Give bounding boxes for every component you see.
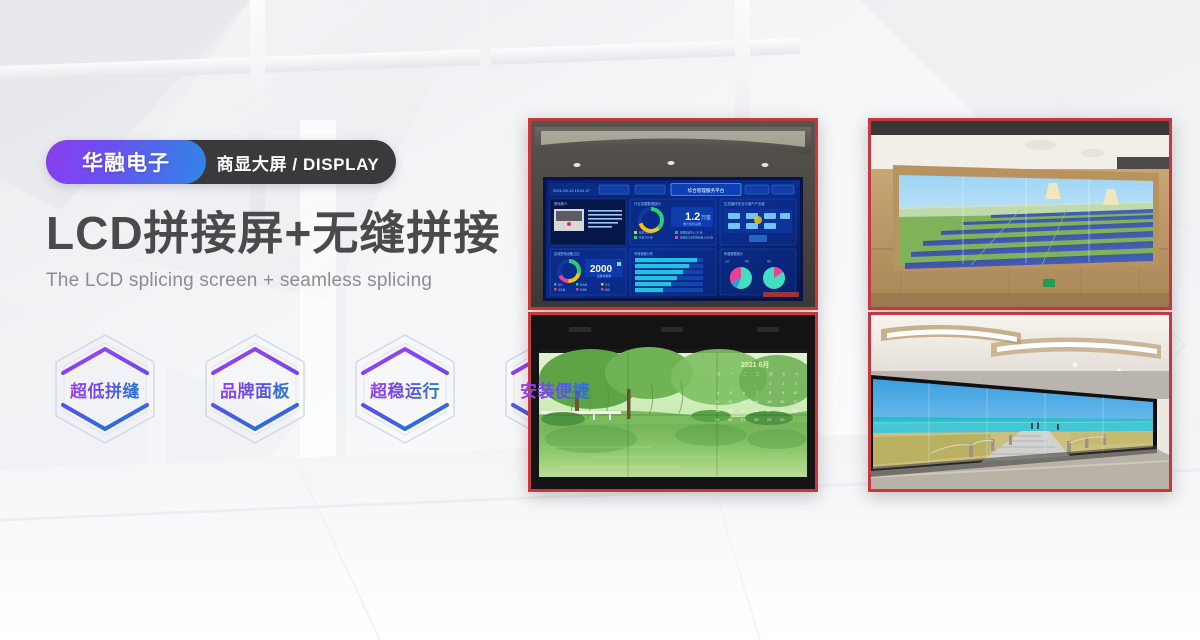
svg-text:25: 25	[715, 417, 720, 422]
svg-text:变压: 变压	[558, 282, 563, 286]
svg-text:基地简介: 基地简介	[554, 201, 568, 206]
svg-text:五: 五	[782, 372, 786, 376]
feature-badge-label: 安装便捷	[520, 377, 590, 402]
photo-beach-image	[871, 315, 1169, 489]
brand-tag-bar: 华融电子 商显大屏 / DISPLAY	[46, 140, 396, 184]
svg-text:16: 16	[780, 399, 785, 404]
svg-text:28: 28	[754, 417, 759, 422]
svg-text:24: 24	[793, 408, 798, 413]
page-title: LCD拼接屏+无缝拼接	[46, 210, 516, 256]
svg-text:市场销量分布: 市场销量分布	[634, 251, 653, 256]
photo-solar-image	[871, 121, 1169, 307]
category-label: 商显大屏 / DISPLAY	[206, 140, 396, 184]
photo-garden-image: 2021 6月 日一二 三四五六 123 45678910 1112131415…	[531, 315, 815, 489]
svg-text:18: 18	[715, 408, 720, 413]
svg-text:10: 10	[793, 390, 798, 395]
svg-text:22: 22	[767, 408, 772, 413]
svg-text:规划建设中心 30 座: 规划建设中心 30 座	[680, 231, 703, 235]
copy-block: 华融电子 商显大屏 / DISPLAY LCD拼接屏+无缝拼接 The LCD …	[46, 140, 516, 292]
svg-text:2021-09-13 10:51:27: 2021-09-13 10:51:27	[553, 188, 591, 193]
feature-badge-3: 超稳运行	[346, 330, 464, 448]
svg-text:12: 12	[728, 399, 733, 404]
svg-text:生态循环农业与用户产业链: 生态循环农业与用户产业链	[724, 201, 765, 206]
svg-text:27: 27	[741, 417, 746, 422]
promo-banner: 华融电子 商显大屏 / DISPLAY LCD拼接屏+无缝拼接 The LCD …	[0, 0, 1200, 640]
photo-panel-garden-videowall[interactable]: 2021 6月 日一二 三四五六 123 45678910 1112131415…	[528, 312, 818, 492]
photo-panel-dashboard[interactable]: 2021-09-13 10:51:27 综合管理服务平台 基地简介	[528, 118, 818, 310]
page-subtitle: The LCD splicing screen + seamless splic…	[46, 270, 516, 292]
svg-text:15: 15	[767, 399, 772, 404]
svg-text:13: 13	[741, 399, 746, 404]
svg-text:在建 300 座: 在建 300 座	[639, 236, 653, 240]
photo-dashboard-image: 2021-09-13 10:51:27 综合管理服务平台 基地简介	[531, 121, 815, 307]
svg-text:30: 30	[780, 417, 785, 422]
svg-text:二: 二	[743, 372, 747, 376]
svg-text:智能化工业控制系统 1000 座: 智能化工业控制系统 1000 座	[680, 236, 714, 240]
svg-text:一: 一	[730, 372, 734, 376]
svg-text:2021 6月: 2021 6月	[741, 361, 769, 369]
svg-text:设备总数量: 设备总数量	[597, 274, 611, 278]
svg-text:26: 26	[728, 417, 733, 422]
svg-text:19: 19	[728, 408, 733, 413]
svg-text:开关: 开关	[605, 282, 610, 286]
svg-text:综合管理服务平台: 综合管理服务平台	[688, 187, 725, 194]
svg-text:行业发展数据统计: 行业发展数据统计	[634, 201, 662, 206]
svg-text:六: 六	[795, 371, 799, 376]
svg-text:逆变器: 逆变器	[558, 287, 566, 291]
svg-text:年度数据统计: 年度数据统计	[724, 251, 744, 256]
svg-text:14: 14	[754, 399, 759, 404]
svg-text:29: 29	[767, 417, 772, 422]
svg-text:日: 日	[717, 372, 721, 376]
feature-badge-label: 超低拼缝	[70, 377, 140, 402]
svg-text:23: 23	[780, 408, 785, 413]
svg-text:控制柜: 控制柜	[580, 287, 588, 291]
svg-text:累计装机总量: 累计装机总量	[683, 221, 701, 226]
svg-text:20: 20	[741, 408, 746, 413]
svg-text:17: 17	[793, 399, 798, 404]
photo-panel-beach-videowall[interactable]	[868, 312, 1172, 492]
feature-badge-2: 品牌面板	[196, 330, 314, 448]
photo-panel-solar-videowall[interactable]	[868, 118, 1172, 310]
svg-text:装机 100 座: 装机 100 座	[639, 231, 653, 235]
feature-badge-1: 超低拼缝	[46, 330, 164, 448]
svg-text:线路: 线路	[605, 287, 610, 291]
feature-badge-label: 品牌面板	[220, 377, 290, 402]
svg-text:区域配电设备占比: 区域配电设备占比	[554, 251, 580, 256]
svg-text:万座: 万座	[701, 214, 711, 221]
svg-text:21: 21	[754, 408, 759, 413]
brand-badge: 华融电子	[46, 140, 206, 184]
svg-text:配电箱: 配电箱	[580, 282, 588, 286]
svg-text:四: 四	[769, 372, 773, 376]
svg-text:三: 三	[756, 372, 760, 376]
feature-badge-label: 超稳运行	[370, 377, 440, 402]
